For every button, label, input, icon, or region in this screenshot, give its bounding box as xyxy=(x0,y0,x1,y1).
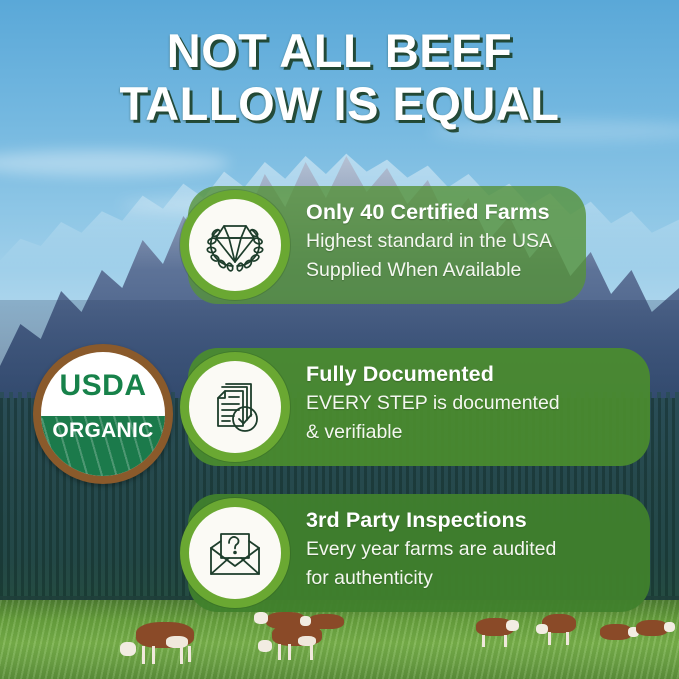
cow xyxy=(300,614,350,638)
feature-line-2: Supplied When Available xyxy=(306,256,572,285)
cow xyxy=(118,622,198,664)
feature-title: Only 40 Certified Farms xyxy=(306,198,572,227)
feature-line-1: Every year farms are audited xyxy=(306,535,636,564)
feature-pill-certified-farms[interactable]: Only 40 Certified Farms Highest standard… xyxy=(188,186,586,304)
icon-ring xyxy=(180,498,290,608)
seal-organic-text: ORGANIC xyxy=(52,419,153,443)
cow xyxy=(536,614,586,646)
feature-line-1: Highest standard in the USA xyxy=(306,227,572,256)
cow xyxy=(632,620,678,646)
seal-top-half: USDA xyxy=(41,352,165,414)
documents-check-icon xyxy=(189,361,281,453)
feature-text: Fully Documented EVERY STEP is documente… xyxy=(306,360,636,447)
feature-title: Fully Documented xyxy=(306,360,636,389)
feature-title: 3rd Party Inspections xyxy=(306,506,636,535)
feature-line-1: EVERY STEP is documented xyxy=(306,389,636,418)
headline-line-2: TALLOW IS EQUAL xyxy=(0,77,679,130)
page-title: NOT ALL BEEF TALLOW IS EQUAL xyxy=(0,24,679,130)
seal-inner: USDA ORGANIC xyxy=(41,352,165,476)
feature-text: 3rd Party Inspections Every year farms a… xyxy=(306,506,636,593)
icon-ring xyxy=(180,190,290,300)
feature-pill-fully-documented[interactable]: Fully Documented EVERY STEP is documente… xyxy=(188,348,650,466)
headline-line-1: NOT ALL BEEF xyxy=(0,24,679,77)
diamond-laurel-icon xyxy=(189,199,281,291)
infographic-canvas: NOT ALL BEEF TALLOW IS EQUAL xyxy=(0,0,679,679)
envelope-question-icon xyxy=(189,507,281,599)
icon-ring xyxy=(180,352,290,462)
seal-divider xyxy=(41,414,165,416)
feature-pill-third-party-inspections[interactable]: 3rd Party Inspections Every year farms a… xyxy=(188,494,650,612)
cow xyxy=(466,618,520,648)
feature-line-2: & verifiable xyxy=(306,418,636,447)
seal-usda-text: USDA xyxy=(59,369,146,403)
usda-organic-seal: USDA ORGANIC xyxy=(33,344,173,484)
feature-text: Only 40 Certified Farms Highest standard… xyxy=(306,198,572,285)
feature-line-2: for authenticity xyxy=(306,564,636,593)
